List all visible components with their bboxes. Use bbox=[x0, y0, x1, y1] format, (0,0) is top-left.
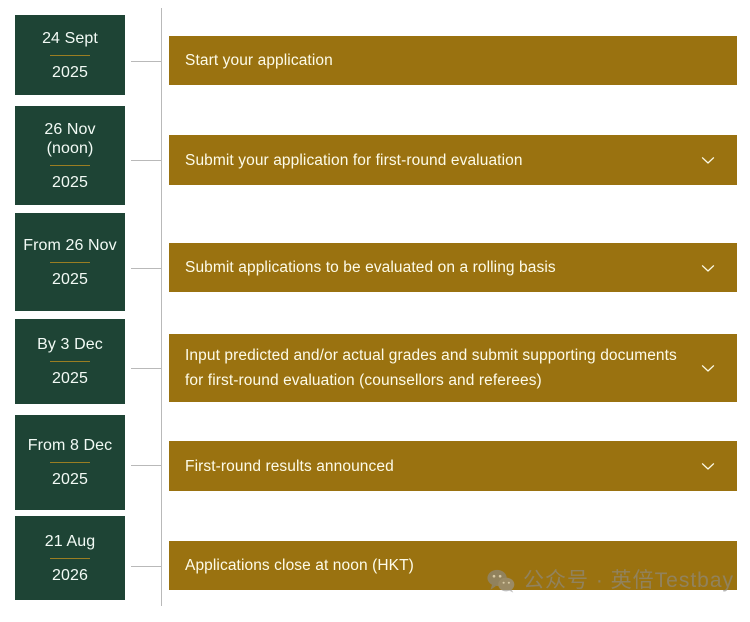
timeline-step-bar: Start your application bbox=[169, 36, 737, 85]
date-card-year: 2025 bbox=[52, 470, 88, 489]
date-card: 21 Aug2026 bbox=[15, 516, 125, 600]
date-card-divider bbox=[50, 462, 90, 463]
date-card-year: 2026 bbox=[52, 566, 88, 585]
timeline-step-label: First-round results announced bbox=[185, 454, 394, 479]
timeline-connector bbox=[131, 61, 161, 62]
date-card-divider bbox=[50, 165, 90, 166]
timeline-connector bbox=[131, 368, 161, 369]
chevron-down-icon[interactable] bbox=[699, 151, 717, 169]
chevron-down-icon[interactable] bbox=[699, 457, 717, 475]
date-card-date: 26 Nov (noon) bbox=[15, 120, 125, 158]
date-card-year: 2025 bbox=[52, 173, 88, 192]
timeline-spine bbox=[161, 8, 162, 606]
timeline-connector bbox=[131, 268, 161, 269]
date-card: By 3 Dec2025 bbox=[15, 319, 125, 404]
date-card: From 8 Dec2025 bbox=[15, 415, 125, 510]
date-card-year: 2025 bbox=[52, 270, 88, 289]
date-card: 24 Sept2025 bbox=[15, 15, 125, 95]
timeline-connector bbox=[131, 160, 161, 161]
timeline-step-bar[interactable]: Submit your application for first-round … bbox=[169, 135, 737, 185]
timeline-step-label: Submit your application for first-round … bbox=[185, 148, 523, 173]
timeline-connector bbox=[131, 566, 161, 567]
date-card-divider bbox=[50, 558, 90, 559]
application-timeline: 21 Aug2026Applications close at noon (HK… bbox=[0, 0, 750, 622]
date-card: From 26 Nov2025 bbox=[15, 213, 125, 311]
timeline-step-label: Start your application bbox=[185, 48, 333, 73]
timeline-step-label: Submit applications to be evaluated on a… bbox=[185, 255, 556, 280]
timeline-step-label: Applications close at noon (HKT) bbox=[185, 553, 414, 578]
date-card-year: 2025 bbox=[52, 63, 88, 82]
date-card-divider bbox=[50, 361, 90, 362]
date-card: 26 Nov (noon)2025 bbox=[15, 106, 125, 205]
date-card-date: From 8 Dec bbox=[24, 436, 117, 455]
timeline-step-label: Input predicted and/or actual grades and… bbox=[185, 343, 695, 393]
date-card-divider bbox=[50, 262, 90, 263]
timeline-step-bar: Applications close at noon (HKT) bbox=[169, 541, 737, 590]
date-card-year: 2025 bbox=[52, 369, 88, 388]
timeline-connector bbox=[131, 465, 161, 466]
chevron-down-icon[interactable] bbox=[699, 259, 717, 277]
date-card-date: 24 Sept bbox=[38, 29, 102, 48]
date-card-divider bbox=[50, 55, 90, 56]
timeline-step-bar[interactable]: First-round results announced bbox=[169, 441, 737, 491]
timeline-step-bar[interactable]: Submit applications to be evaluated on a… bbox=[169, 243, 737, 292]
date-card-date: By 3 Dec bbox=[33, 335, 107, 354]
date-card-date: From 26 Nov bbox=[19, 236, 121, 255]
date-card-date: 21 Aug bbox=[41, 532, 99, 551]
chevron-down-icon[interactable] bbox=[699, 359, 717, 377]
timeline-step-bar[interactable]: Input predicted and/or actual grades and… bbox=[169, 334, 737, 402]
